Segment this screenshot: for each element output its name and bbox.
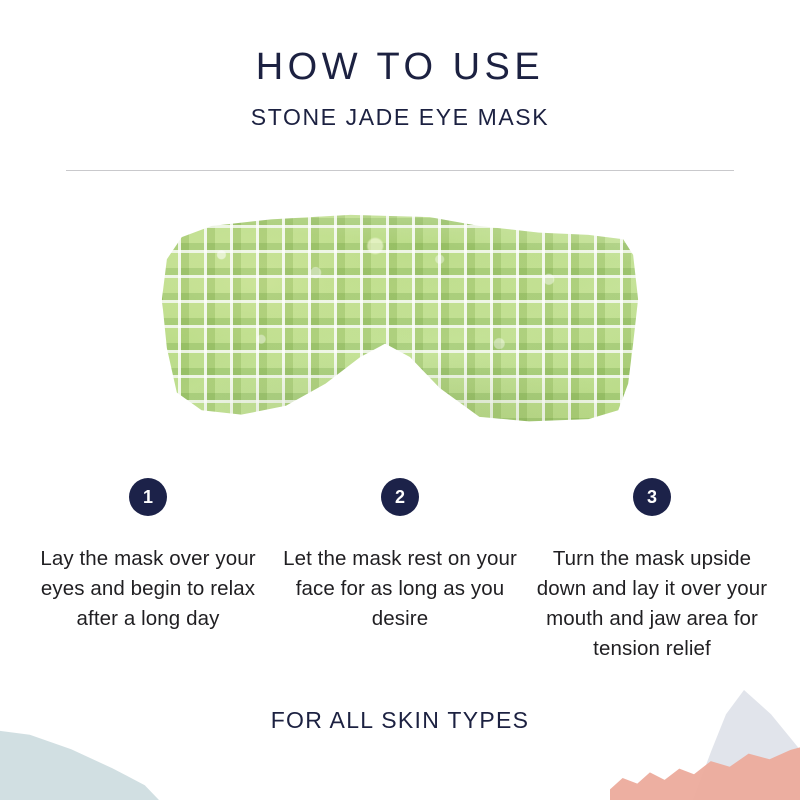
footer-tagline: FOR ALL SKIN TYPES	[0, 709, 800, 732]
jade-mask-trim	[150, 204, 650, 430]
step-item-1: 1 Lay the mask over your eyes and begin …	[22, 478, 274, 634]
step-description-2: Let the mask rest on your face for as lo…	[274, 544, 526, 634]
step-item-2: 2 Let the mask rest on your face for as …	[274, 478, 526, 634]
step-item-3: 3 Turn the mask upside down and lay it o…	[526, 478, 778, 664]
page-title: HOW TO USE	[0, 48, 800, 86]
header-divider	[66, 170, 734, 171]
product-image-jade-eye-mask	[152, 206, 648, 428]
step-number-badge-3: 3	[633, 478, 671, 516]
how-to-use-infographic: HOW TO USE STONE JADE EYE MASK 1 Lay the…	[0, 0, 800, 800]
step-description-3: Turn the mask upside down and lay it ove…	[526, 544, 778, 664]
jade-mask-body	[152, 206, 648, 428]
product-subtitle: STONE JADE EYE MASK	[0, 106, 800, 129]
step-number-badge-1: 1	[129, 478, 167, 516]
step-description-1: Lay the mask over your eyes and begin to…	[22, 544, 274, 634]
step-number-badge-2: 2	[381, 478, 419, 516]
steps-list: 1 Lay the mask over your eyes and begin …	[0, 478, 800, 664]
